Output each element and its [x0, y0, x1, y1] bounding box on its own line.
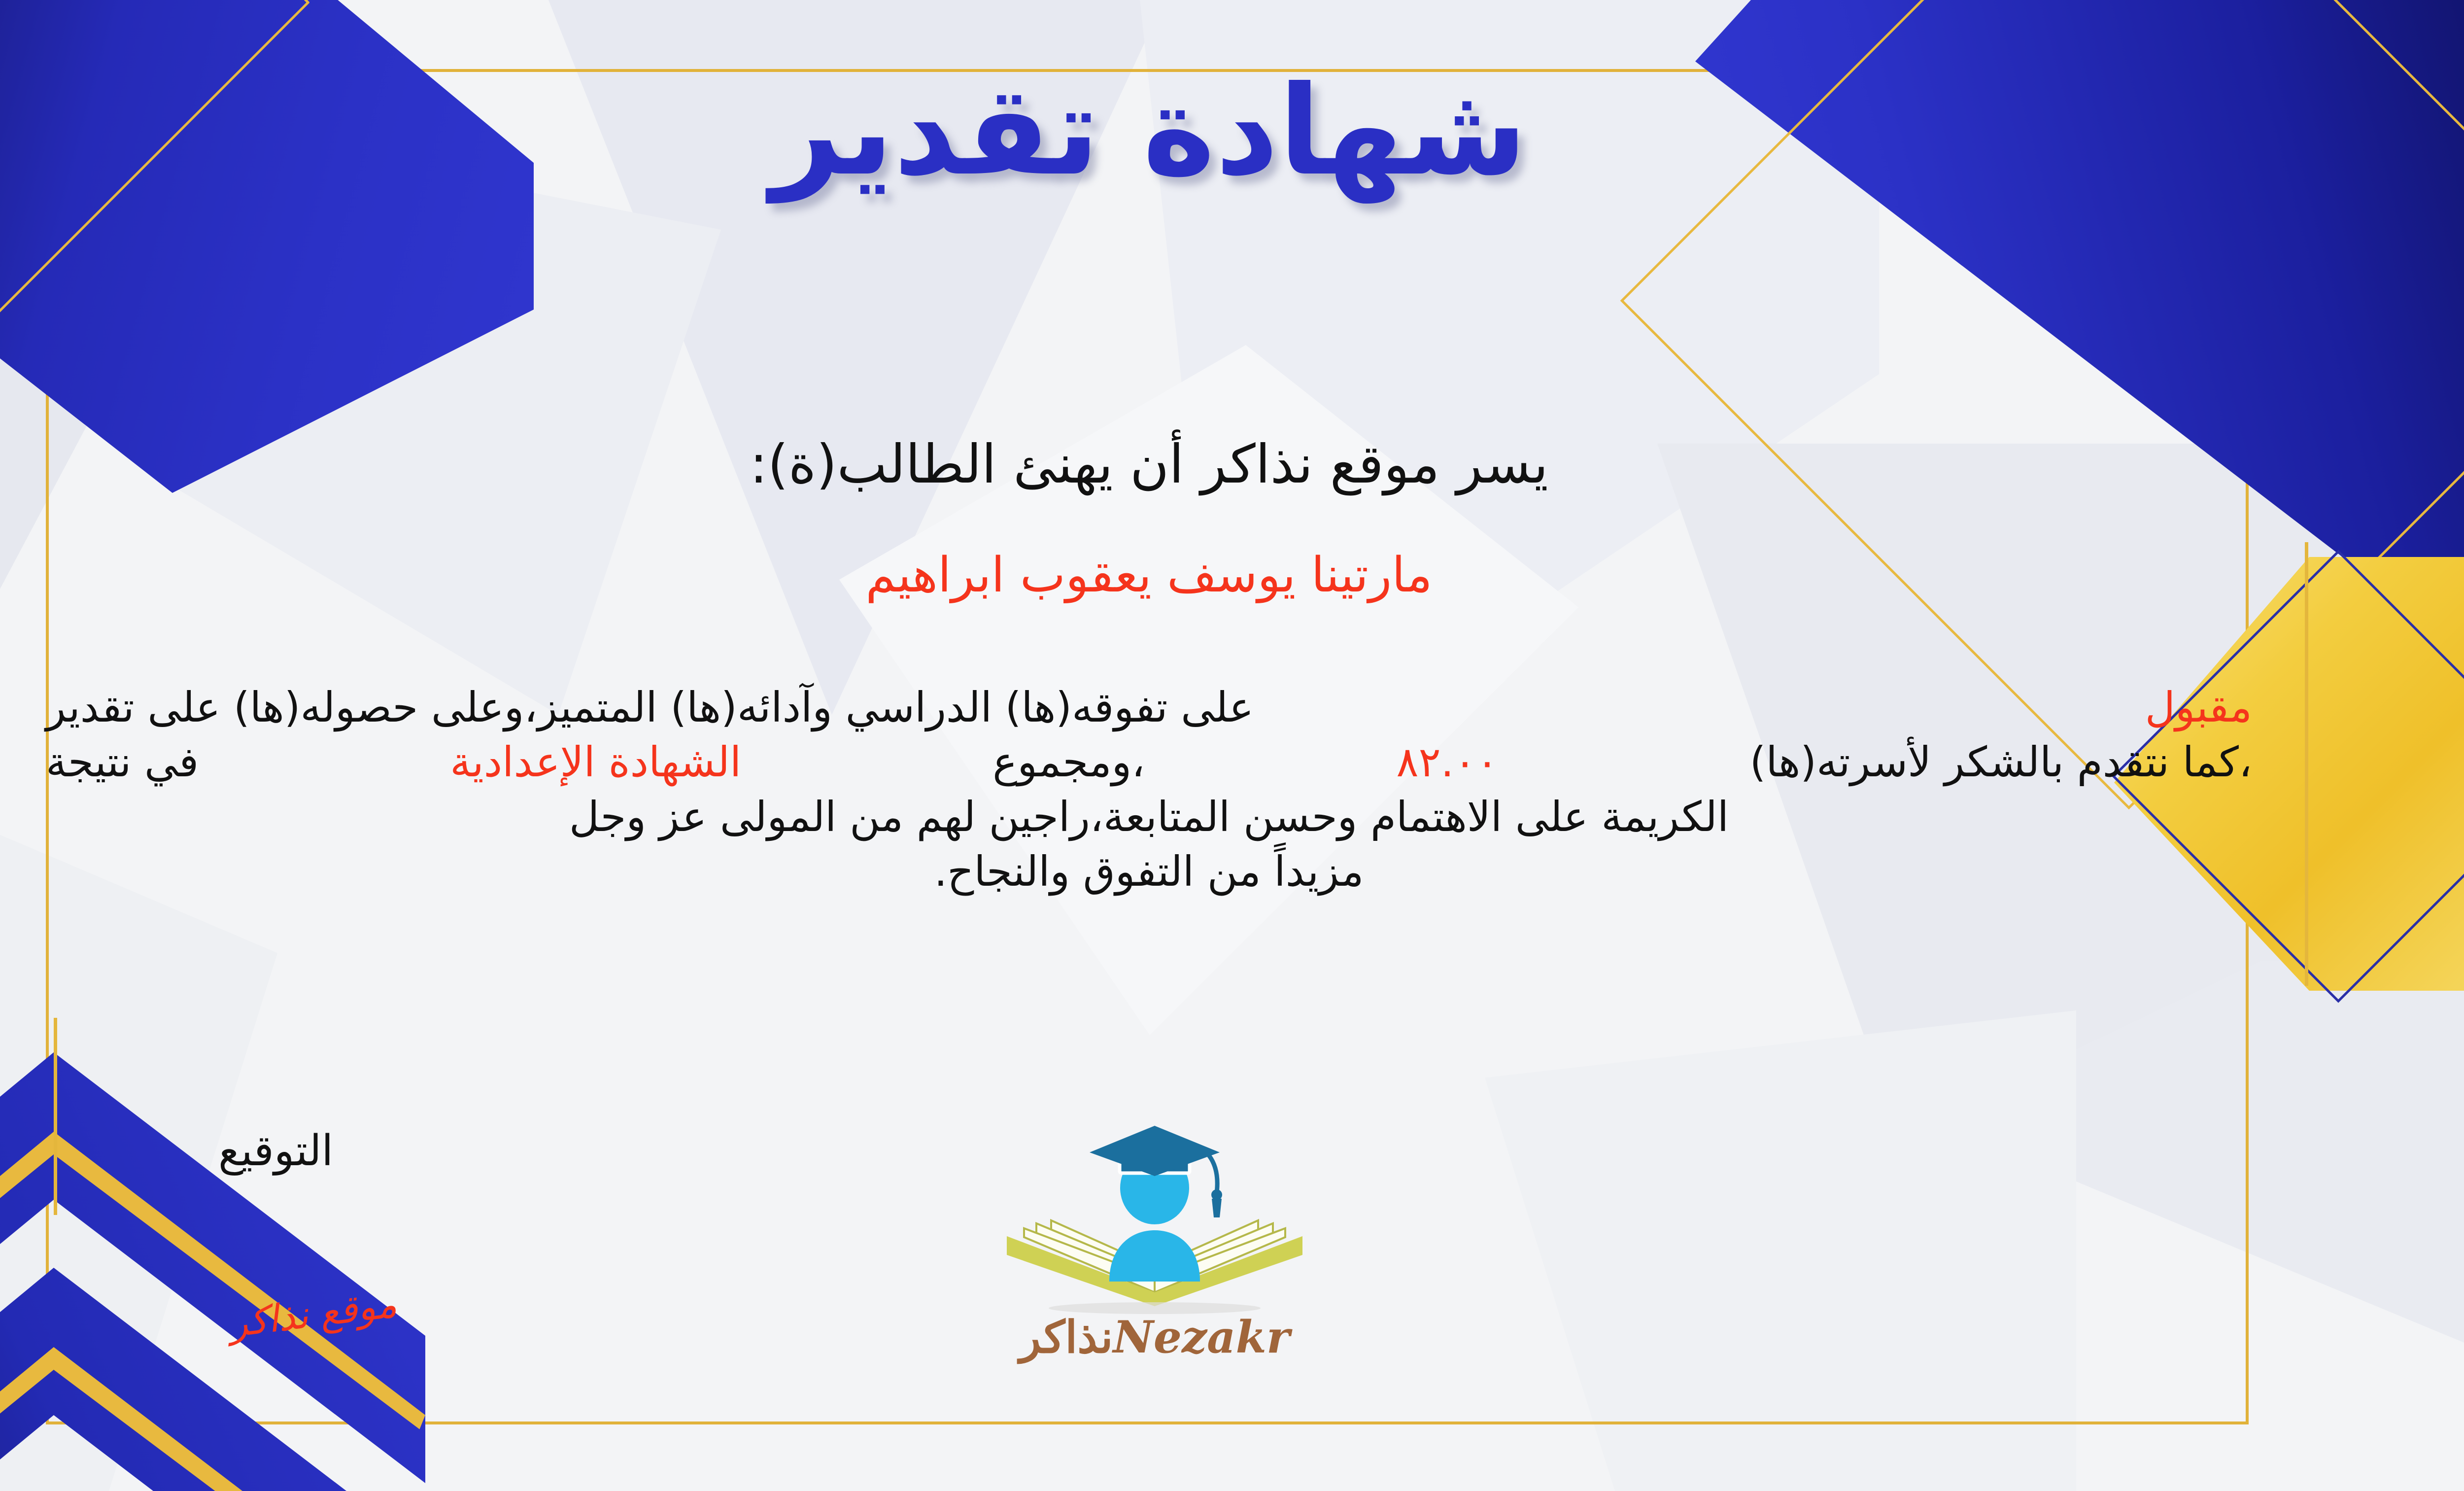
- body-line-1-text: على تفوقه(ها) الدراسي وآدائه(ها) المتميز…: [46, 680, 1254, 735]
- body-line-3: الكريمة على الاهتمام وحسن المتابعة،راجين…: [46, 790, 2252, 844]
- greeting-line: يسر موقع نذاكر أن يهنئ الطالب(ة):: [0, 434, 2464, 495]
- logo-name-ar: نذاكر: [1020, 1311, 1113, 1363]
- student-name: مارتينا يوسف يعقوب ابراهيم: [0, 547, 2464, 603]
- certificate-title: شهادة تقدير: [0, 54, 2464, 208]
- body-line-2-left: ،كما نتقدم بالشكر لأسرته(ها): [1750, 735, 2252, 790]
- body-line-4: مزيداً من التفوق والنجاح.: [46, 844, 2252, 899]
- exam-name: الشهادة الإعدادية: [450, 735, 741, 790]
- body-line-1: مقبول على تفوقه(ها) الدراسي وآدائه(ها) ا…: [46, 680, 2252, 735]
- logo-name-en: Nezakr: [1113, 1311, 1290, 1363]
- graduate-open-book-icon: [977, 1119, 1332, 1316]
- body-line-2: ،كما نتقدم بالشكر لأسرته(ها) ٨٢.٠٠ ،ومجم…: [46, 735, 2252, 790]
- body-line-2-right: في نتيجة: [46, 735, 199, 790]
- site-logo: Nezakrنذاكر: [977, 1119, 1332, 1415]
- total-score: ٨٢.٠٠: [1396, 735, 1498, 790]
- certificate-body: مقبول على تفوقه(ها) الدراسي وآدائه(ها) ا…: [46, 680, 2252, 899]
- signature-label: التوقيع: [218, 1126, 333, 1176]
- body-line-2-mid: ،ومجموع: [992, 735, 1145, 790]
- logo-wordmark: Nezakrنذاكر: [977, 1311, 1332, 1363]
- certificate-page: شهادة تقدير يسر موقع نذاكر أن يهنئ الطال…: [0, 0, 2464, 1491]
- certificate-content: شهادة تقدير يسر موقع نذاكر أن يهنئ الطال…: [0, 0, 2464, 1491]
- signature-script: موقع نذاكر: [227, 1282, 399, 1346]
- grade-value: مقبول: [2145, 680, 2252, 735]
